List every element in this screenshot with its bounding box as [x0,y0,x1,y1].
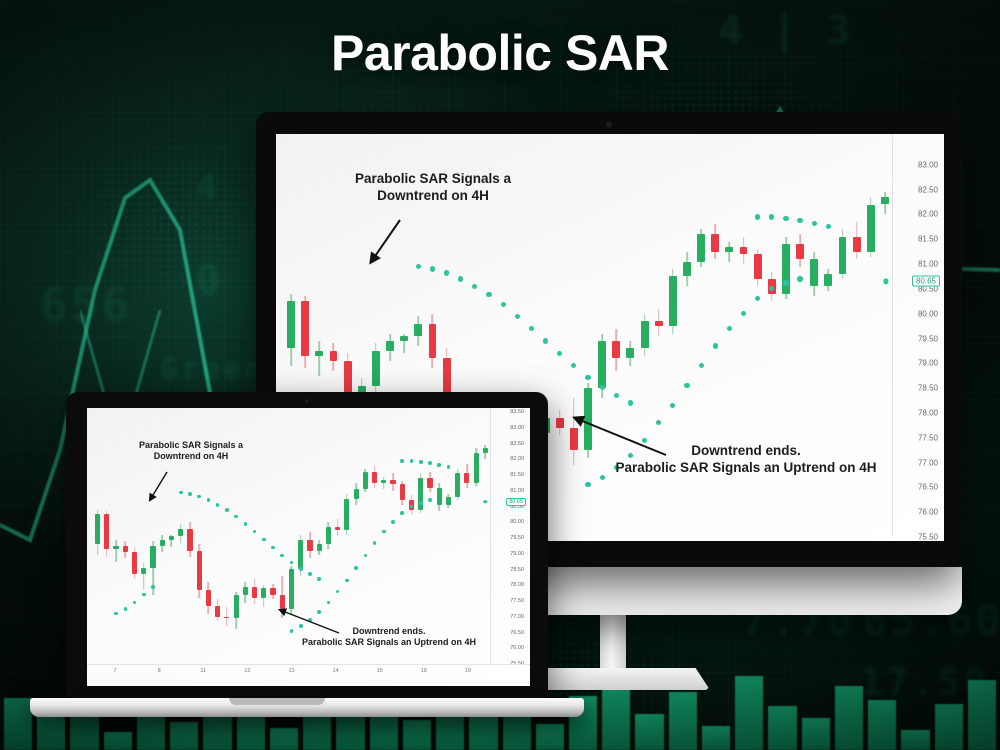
parabolic-sar-dot [585,482,590,487]
parabolic-sar-dot [225,508,229,512]
candle-body [301,301,309,356]
candlestick [683,252,691,287]
price-axis-tick: 76.50 [510,630,524,636]
candle-body [446,497,451,505]
parabolic-sar-dot [783,280,788,285]
time-axis-tick: 14 [333,668,339,674]
parabolic-sar-dot [391,520,395,524]
candlestick [381,477,386,490]
parabolic-sar-dot [797,218,802,223]
candle-body [178,529,183,537]
time-axis-tick: 7 [114,668,117,674]
candle-body [215,606,220,617]
page-title: Parabolic SAR [0,24,1000,82]
candle-body [429,324,437,359]
candlestick [307,532,312,559]
parabolic-sar-dot [114,612,118,616]
candle-body [197,551,202,590]
candlestick [881,192,889,214]
candle-wick [383,477,385,490]
price-axis-tick: 79.00 [918,359,938,368]
monitor-stand-base [530,668,710,690]
candle-body [113,546,118,549]
candlestick [335,519,340,536]
candle-body [287,301,295,348]
candle-body [400,484,405,500]
candle-body [796,244,804,259]
parabolic-sar-dot [447,465,451,469]
parabolic-sar-dot [253,530,257,534]
parabolic-sar-dot [628,400,633,405]
candle-body [455,473,460,497]
price-axis-tick: 75.50 [918,533,938,542]
parabolic-sar-dot [216,503,220,507]
parabolic-sar-dot [400,459,404,463]
candle-body [464,473,469,482]
parabolic-sar-dot [769,214,774,219]
parabolic-sar-dot [741,311,746,316]
parabolic-sar-dot [472,284,477,289]
candle-body [317,544,322,550]
price-axis-tick: 81.50 [510,472,524,478]
price-axis-tick: 77.50 [918,433,938,442]
current-price-marker [483,500,487,504]
candle-body [881,197,889,204]
candle-body [123,546,128,552]
current-price-tag[interactable]: 80.65 [506,498,526,506]
annotation-downtrend-line1: Parabolic SAR Signals a [355,171,511,186]
candlestick [839,229,847,279]
price-axis-tick: 77.00 [918,458,938,467]
parabolic-sar-dot [670,403,675,408]
parabolic-sar-dot [271,546,275,550]
parabolic-sar-dot [207,498,211,502]
price-axis-tick: 83.50 [510,409,524,415]
candlestick [437,483,442,511]
candlestick [867,197,875,257]
annotation-downtrend-line2: Downtrend on 4H [154,451,229,461]
price-axis-tick: 82.50 [510,441,524,447]
candle-body [104,514,109,549]
price-axis-tick: 76.00 [918,508,938,517]
candlestick [669,269,677,334]
candlestick [132,547,137,579]
price-axis-tick: 80.00 [918,309,938,318]
parabolic-sar-dot [336,590,340,594]
candle-body [839,237,847,274]
candlestick [287,294,295,366]
candle-body [252,587,257,598]
price-axis-tick: 81.00 [510,488,524,494]
candle-body [330,351,338,361]
current-price-tag[interactable]: 80.65 [912,276,940,287]
candlestick [169,535,174,548]
candlestick [711,224,719,259]
candle-body [418,478,423,510]
candlestick [178,524,183,543]
candle-body [740,247,748,254]
candlestick [372,466,377,488]
parabolic-sar-dot [614,393,619,398]
price-axis-tick: 82.00 [918,210,938,219]
parabolic-sar-dot [262,538,266,542]
candle-body [307,540,312,551]
annotation-downtrend: Parabolic SAR Signals aDowntrend on 4H [111,440,271,463]
price-axis-tick: 78.50 [510,567,524,573]
price-axis-tick: 83.00 [510,425,524,431]
candlestick [810,252,818,297]
candlestick [95,510,100,556]
candle-body [386,341,394,351]
candle-body [372,472,377,483]
annotation-uptrend-arrow [572,416,668,458]
candlestick [414,316,422,346]
price-axis-tick: 78.00 [918,408,938,417]
candlestick [326,522,331,549]
annotation-downtrend-arrow [147,470,169,504]
candle-body [315,351,323,356]
candle-body [626,348,634,358]
candlestick [641,314,649,356]
parabolic-sar-dot [179,491,183,495]
parabolic-sar-dot [755,296,760,301]
price-axis-tick: 80.00 [510,519,524,525]
candlestick [626,341,634,366]
annotation-uptrend-line1: Downtrend ends. [691,443,801,458]
candle-body [697,234,705,261]
price-axis-tick: 81.50 [918,235,938,244]
candle-body [141,568,146,574]
candle-body [683,262,691,277]
candle-body [363,472,368,489]
candlestick [354,483,359,505]
candlestick [197,544,202,598]
price-axis-tick: 77.00 [510,614,524,620]
candlestick [474,448,479,486]
parabolic-sar-dot [280,554,284,558]
price-axis-tick: 79.50 [918,334,938,343]
candle-body [354,489,359,498]
candle-body [289,569,294,608]
parabolic-sar-dot [419,460,423,464]
candlestick [725,242,733,262]
candlestick [754,249,762,286]
candlestick [113,540,118,562]
candlestick [363,469,368,493]
parabolic-sar-dot [529,326,534,331]
candle-body [234,595,239,619]
candle-body [206,590,211,606]
parabolic-sar-dot [142,593,146,597]
candlestick [429,314,437,369]
price-axis-tick: 78.50 [918,384,938,393]
parabolic-sar-dot [290,561,294,565]
candlestick [243,582,248,602]
price-axis: 83.0082.5082.0081.5081.0080.5080.0079.50… [892,134,944,541]
candle-body [711,234,719,251]
candle-body [782,244,790,294]
candle-body [427,478,432,487]
candlestick [187,522,192,557]
candle-body [160,540,165,546]
candle-body [867,205,875,252]
candlestick [612,329,620,371]
candle-body [669,276,677,326]
candle-body [655,321,663,326]
candle-body [280,595,285,609]
candle-body [810,259,818,286]
parabolic-sar-dot [234,515,238,519]
candle-body [612,341,620,358]
annotation-downtrend-line1: Parabolic SAR Signals a [139,440,243,450]
price-axis-tick: 83.00 [918,160,938,169]
parabolic-sar-dot [812,221,817,226]
price-axis-tick: 76.50 [918,483,938,492]
candlestick [782,237,790,299]
candlestick [301,296,309,368]
parabolic-sar-dot [151,585,155,589]
annotation-uptrend-arrow [277,608,341,636]
candle-body [326,527,331,544]
parabolic-sar-dot [557,351,562,356]
parabolic-sar-dot [727,326,732,331]
parabolic-sar-dot [444,270,449,275]
candlestick [418,473,423,512]
time-axis-tick: 13 [288,668,294,674]
candle-body [169,536,174,539]
candlestick [315,341,323,376]
current-price-marker [883,279,888,284]
candle-body [474,453,479,483]
parabolic-sar-dot [458,276,463,281]
candle-body [598,341,606,388]
candlestick [446,494,451,508]
candlestick [386,334,394,361]
parabolic-sar-dot [345,579,349,583]
candle-body [853,237,861,252]
parabolic-sar-dot [416,264,421,269]
time-axis-tick: 11 [200,668,206,674]
candle-body [754,254,762,279]
candlestick [270,584,275,600]
parabolic-sar-dot [543,338,548,343]
laptop-trackpad-notch [229,698,325,705]
parabolic-sar-dot [354,566,358,570]
parabolic-sar-dot [419,501,423,505]
parabolic-sar-dot [600,385,605,390]
parabolic-sar-dot [327,601,331,605]
candle-body [381,480,386,483]
parabolic-sar-dot [373,541,377,545]
candlestick [697,229,705,266]
candlestick [160,535,165,552]
candlestick [853,222,861,259]
webcam-icon [607,122,612,127]
parabolic-sar-dot [699,363,704,368]
parabolic-sar-dot [430,266,435,271]
parabolic-sar-dot [713,343,718,348]
candle-body [344,499,349,531]
candle-body [390,480,395,485]
parabolic-sar-dot [826,224,831,229]
candle-body [298,540,303,570]
annotation-downtrend-line2: Downtrend on 4H [377,188,489,203]
price-axis-tick: 78.00 [510,582,524,588]
laptop: 83.5083.0082.5082.0081.5081.0080.5080.00… [66,392,548,700]
candlestick [289,566,294,613]
candle-body [150,546,155,568]
time-axis-tick: 19 [465,668,471,674]
candlestick [215,599,220,621]
parabolic-sar-dot [188,492,192,496]
candlestick [740,237,748,264]
parabolic-sar-dot [571,363,576,368]
candlestick [464,464,469,488]
parabolic-sar-dot [797,276,802,281]
candle-body [270,588,275,594]
candle-body [556,418,564,428]
candlestick [104,511,109,557]
annotation-downtrend: Parabolic SAR Signals aDowntrend on 4H [318,170,548,204]
parabolic-sar-dot [501,302,506,307]
candlestick [234,592,239,630]
candle-body [725,247,733,252]
time-axis-tick: 18 [421,668,427,674]
parabolic-sar-dot [410,459,414,463]
price-axis-tick: 82.00 [510,456,524,462]
candle-body [344,361,352,396]
candle-wick [115,540,117,562]
parabolic-sar-dot [755,214,760,219]
candlestick [483,445,488,459]
price-axis-tick: 77.50 [510,598,524,604]
annotation-uptrend-line2: Parabolic SAR Signals an Uptrend on 4H [615,460,876,475]
candlestick [400,334,408,354]
candlestick [796,234,804,266]
candlestick [317,540,322,556]
parabolic-sar-dot [244,522,248,526]
candlestick [344,494,349,535]
candlestick [427,472,432,492]
parabolic-sar-dot [684,383,689,388]
time-axis-tick: 8 [158,668,161,674]
price-axis-tick: 82.50 [918,185,938,194]
parabolic-sar-dot [585,375,590,380]
candlestick [655,309,663,336]
webcam-icon [305,399,309,403]
candlestick [224,607,229,626]
parabolic-sar-dot [400,511,404,515]
candle-wick [729,242,731,262]
candle-body [95,514,100,544]
candle-body [400,336,408,341]
candlestick [261,585,266,607]
candlestick-chart-laptop[interactable]: 83.5083.0082.5082.0081.5081.0080.5080.00… [87,408,530,686]
candlestick [455,469,460,501]
parabolic-sar-dot [437,463,441,467]
candle-body [187,529,192,551]
parabolic-sar-dot [783,216,788,221]
candle-body [483,448,488,453]
parabolic-sar-dot [124,607,128,611]
annotation-uptrend-line1: Downtrend ends. [352,626,425,636]
price-axis-tick: 79.50 [510,535,524,541]
parabolic-sar-dot [197,495,201,499]
candlestick [400,481,405,505]
time-axis-tick: 15 [377,668,383,674]
parabolic-sar-dot [428,461,432,465]
parabolic-sar-dot [515,314,520,319]
price-axis-tick: 79.00 [510,551,524,557]
laptop-screen[interactable]: 83.5083.0082.5082.0081.5081.0080.5080.00… [87,408,530,686]
candlestick [330,343,338,370]
price-axis-line [892,134,893,537]
time-axis-tick: 12 [244,668,250,674]
parabolic-sar-dot [428,498,432,502]
price-axis-tick: 81.00 [918,260,938,269]
parabolic-sar-dot [382,530,386,534]
candlestick [390,473,395,490]
candlestick [206,582,211,614]
candle-body [335,527,340,530]
candle-body [261,588,266,597]
candlestick [824,269,832,291]
parabolic-sar-dot [317,577,321,581]
annotation-downtrend-arrow [368,218,402,266]
candle-body [437,488,442,505]
parabolic-sar-dot [299,567,303,571]
time-axis: 7811121314151819 [87,664,530,686]
candlestick [252,579,257,604]
candle-body [132,552,137,574]
candle-body [243,587,248,595]
candle-wick [319,341,321,376]
candlestick [141,563,146,590]
candlestick [556,410,564,435]
candle-body [824,274,832,286]
price-axis-tick: 76.00 [510,645,524,651]
parabolic-sar-dot [364,554,368,558]
candle-body [414,324,422,336]
parabolic-sar-dot [486,292,491,297]
candle-body [372,351,380,386]
parabolic-sar-dot [133,601,137,605]
candle-body [641,321,649,348]
annotation-uptrend-line2: Parabolic SAR Signals an Uptrend on 4H [302,637,476,647]
candlestick [123,541,128,558]
parabolic-sar-dot [308,572,312,576]
